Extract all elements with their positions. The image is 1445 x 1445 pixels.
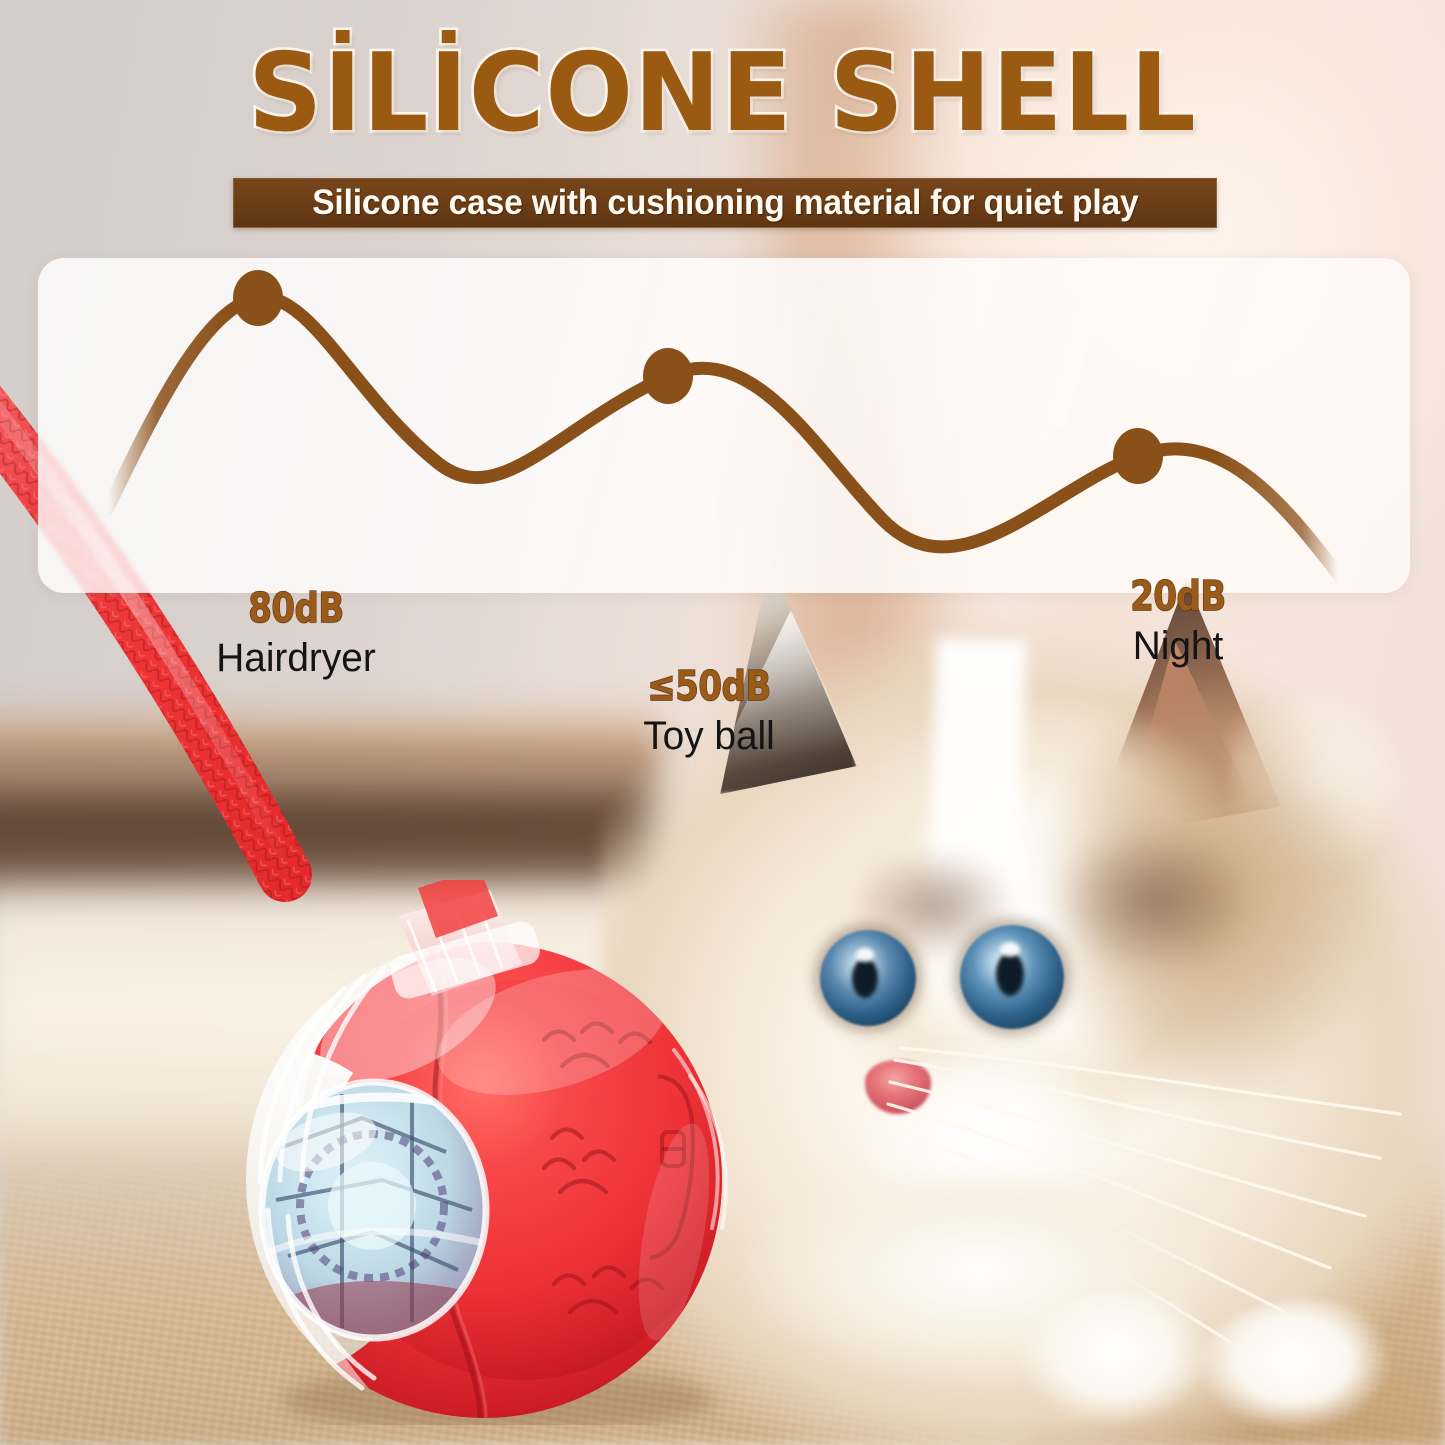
cat-toy-ball [222, 880, 762, 1425]
noise-source-toyball: Toy ball [559, 716, 860, 756]
noise-source-hairdryer: Hairdryer [146, 638, 447, 678]
wave-dot-toyball [643, 348, 693, 404]
wave-dot-hairdryer [233, 270, 283, 326]
cat-eye-highlight-right [1000, 942, 1020, 957]
noise-label-hairdryer: 80dB Hairdryer [141, 588, 451, 678]
noise-label-night: 20dB Night [1023, 576, 1333, 666]
wave-dot-night [1113, 428, 1163, 484]
noise-label-toyball: ≤50dB Toy ball [554, 666, 864, 756]
subtitle-text: Silicone case with cushioning material f… [312, 183, 1138, 223]
noise-db-toyball: ≤50dB [566, 666, 851, 707]
noise-source-night: Night [1028, 626, 1329, 666]
noise-wave-chart [38, 258, 1410, 593]
cat-brow-right [1040, 800, 1270, 1000]
cat-pupil-right [996, 952, 1024, 996]
page-title: SİLİCONE SHELL [0, 40, 1445, 148]
subtitle-banner: Silicone case with cushioning material f… [233, 178, 1217, 228]
product-infographic: 80dB Hairdryer ≤50dB Toy ball 20dB Night… [0, 0, 1445, 1445]
cat-pupil-left [852, 958, 878, 998]
noise-db-night: 20dB [1035, 576, 1320, 617]
cat-eye-highlight-left [856, 948, 874, 962]
noise-db-hairdryer: 80dB [153, 588, 438, 629]
noise-comparison-panel: 80dB Hairdryer ≤50dB Toy ball 20dB Night [38, 258, 1410, 593]
